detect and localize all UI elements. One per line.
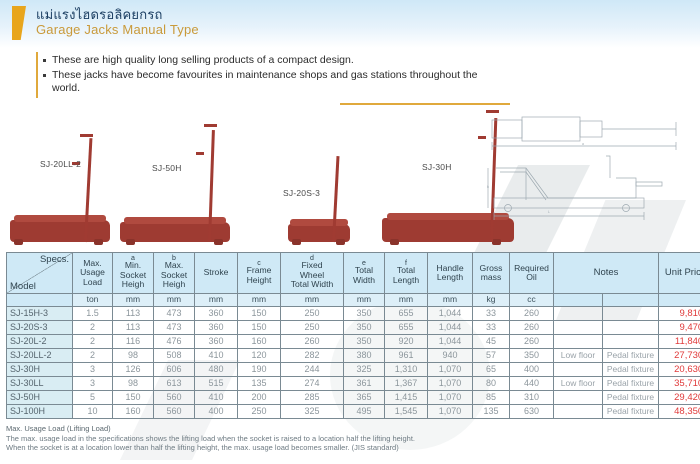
unit-blank bbox=[7, 294, 73, 307]
cell-gross-mass: 45 bbox=[473, 335, 510, 349]
cell-frame-height: 135 bbox=[238, 377, 281, 391]
jack-handle-grip bbox=[196, 152, 204, 155]
cell-fixed-wheel-width: 250 bbox=[281, 321, 344, 335]
unit-mm: mm bbox=[344, 294, 385, 307]
cell-frame-height: 150 bbox=[238, 321, 281, 335]
cell-max-socket: 560 bbox=[154, 391, 195, 405]
cell-gross-mass: 33 bbox=[473, 321, 510, 335]
svg-text:L: L bbox=[548, 210, 550, 214]
cell-fixed-wheel-width: 250 bbox=[281, 307, 344, 321]
cell-fixed-wheel-width: 260 bbox=[281, 335, 344, 349]
cell-load: 3 bbox=[73, 377, 113, 391]
cell-required-oil: 440 bbox=[510, 377, 554, 391]
model-label: Model bbox=[10, 282, 36, 292]
cell-note-1 bbox=[554, 335, 603, 349]
product-label: SJ-50H bbox=[152, 163, 182, 173]
jack-wheel bbox=[336, 239, 345, 245]
cell-gross-mass: 135 bbox=[473, 405, 510, 419]
cell-handle-length: 1,044 bbox=[428, 321, 473, 335]
technical-drawing: aLh bbox=[486, 112, 692, 224]
unit-mm: mm bbox=[113, 294, 154, 307]
cell-load: 10 bbox=[73, 405, 113, 419]
header-max-socket-heigh: bMax.SocketHeigh bbox=[154, 253, 195, 294]
cell-required-oil: 400 bbox=[510, 363, 554, 377]
table-row: SJ-20S-3 2 113 473 360 150 250 350 655 1… bbox=[7, 321, 700, 335]
cell-min-socket: 150 bbox=[113, 391, 154, 405]
cell-handle-length: 1,070 bbox=[428, 377, 473, 391]
cell-required-oil: 350 bbox=[510, 349, 554, 363]
footnote-line-1: Max. Usage Load (Lifting Load) bbox=[6, 424, 696, 434]
cell-fixed-wheel-width: 325 bbox=[281, 405, 344, 419]
cell-gross-mass: 33 bbox=[473, 307, 510, 321]
cell-note-2: Pedal fixture bbox=[603, 405, 659, 419]
jack-handle-grip bbox=[204, 124, 217, 127]
cell-load: 2 bbox=[73, 349, 113, 363]
cell-gross-mass: 65 bbox=[473, 363, 510, 377]
table-row: SJ-20LL-2 2 98 508 410 120 282 380 961 9… bbox=[7, 349, 700, 363]
cell-total-length: 655 bbox=[385, 321, 428, 335]
cell-total-width: 325 bbox=[344, 363, 385, 377]
jack-wheel bbox=[94, 239, 103, 245]
cell-frame-height: 190 bbox=[238, 363, 281, 377]
cell-min-socket: 113 bbox=[113, 321, 154, 335]
cell-unit-price: 27,730.- bbox=[659, 349, 700, 363]
cell-model: SJ-30LL bbox=[7, 377, 73, 391]
cell-total-length: 1,545 bbox=[385, 405, 428, 419]
cell-stroke: 360 bbox=[195, 335, 238, 349]
cell-note-2: Pedal fixture bbox=[603, 377, 659, 391]
page-title-english: Garage Jacks Manual Type bbox=[36, 22, 199, 37]
header-unit-price: Unit Price bbox=[659, 253, 700, 294]
cell-total-length: 1,415 bbox=[385, 391, 428, 405]
cell-frame-height: 120 bbox=[238, 349, 281, 363]
table-row: SJ-20L-2 2 116 476 360 160 260 350 920 1… bbox=[7, 335, 700, 349]
product-image-sj-50h bbox=[118, 116, 233, 242]
jack-wheel bbox=[492, 239, 501, 245]
cell-total-length: 961 bbox=[385, 349, 428, 363]
cell-max-socket: 476 bbox=[154, 335, 195, 349]
jack-wheel bbox=[14, 239, 23, 245]
bullet-item: These jacks have become favourites in ma… bbox=[38, 69, 508, 95]
cell-model: SJ-20S-3 bbox=[7, 321, 73, 335]
cell-total-width: 495 bbox=[344, 405, 385, 419]
page-header: แม่แรงไฮดรอลิคยกรถ Garage Jacks Manual T… bbox=[0, 0, 700, 48]
jack-handle-grip bbox=[80, 134, 93, 137]
cell-total-width: 350 bbox=[344, 321, 385, 335]
cell-min-socket: 126 bbox=[113, 363, 154, 377]
cell-note-1 bbox=[554, 363, 603, 377]
cell-note-2 bbox=[603, 335, 659, 349]
cell-gross-mass: 85 bbox=[473, 391, 510, 405]
cell-gross-mass: 80 bbox=[473, 377, 510, 391]
intro-bullets: These are high quality long selling prod… bbox=[36, 52, 508, 98]
cell-load: 2 bbox=[73, 321, 113, 335]
cell-note-1: Low floor bbox=[554, 377, 603, 391]
unit-blank bbox=[603, 294, 659, 307]
cell-note-1 bbox=[554, 405, 603, 419]
cell-model: SJ-100H bbox=[7, 405, 73, 419]
cell-unit-price: 29,420.- bbox=[659, 391, 700, 405]
cell-handle-length: 1,070 bbox=[428, 363, 473, 377]
cell-unit-price: 20,630.- bbox=[659, 363, 700, 377]
product-label: SJ-30H bbox=[422, 162, 452, 172]
cell-note-2: Pedal fixture bbox=[603, 391, 659, 405]
table-header-row: Specs. Model Max.UsageLoad aMin.SocketHe… bbox=[7, 253, 700, 294]
cell-note-1 bbox=[554, 307, 603, 321]
cell-stroke: 400 bbox=[195, 405, 238, 419]
header-notes: Notes bbox=[554, 253, 659, 294]
cell-min-socket: 113 bbox=[113, 307, 154, 321]
cell-model: SJ-50H bbox=[7, 391, 73, 405]
cell-handle-length: 940 bbox=[428, 349, 473, 363]
product-image-sj-20ll-2 bbox=[8, 122, 113, 242]
cell-unit-price: 9,470.- bbox=[659, 321, 700, 335]
header-fixed-wheel-total-width: dFixedWheelTotal Width bbox=[281, 253, 344, 294]
unit-mm: mm bbox=[281, 294, 344, 307]
header-required-oil: RequiredOil bbox=[510, 253, 554, 294]
table-row: SJ-30LL 3 98 613 515 135 274 361 1,367 1… bbox=[7, 377, 700, 391]
cell-note-2: Pedal fixture bbox=[603, 363, 659, 377]
specifications-table: Specs. Model Max.UsageLoad aMin.SocketHe… bbox=[6, 252, 700, 419]
cell-frame-height: 160 bbox=[238, 335, 281, 349]
cell-note-2: Pedal fixture bbox=[603, 349, 659, 363]
bullet-item: These are high quality long selling prod… bbox=[38, 54, 508, 67]
unit-blank bbox=[554, 294, 603, 307]
cell-load: 3 bbox=[73, 363, 113, 377]
cell-required-oil: 260 bbox=[510, 307, 554, 321]
cell-fixed-wheel-width: 274 bbox=[281, 377, 344, 391]
cell-fixed-wheel-width: 244 bbox=[281, 363, 344, 377]
footnote-line-2: The max. usage load in the specification… bbox=[6, 434, 696, 444]
table-row: SJ-15H-3 1.5 113 473 360 150 250 350 655… bbox=[7, 307, 700, 321]
product-photo-area: aLh SJ-20LL-2 SJ-50H SJ-20S-3 SJ-30H bbox=[0, 104, 700, 246]
cell-unit-price: 11,840.- bbox=[659, 335, 700, 349]
jack-wheel bbox=[390, 239, 399, 245]
header-gross-mass: Grossmass bbox=[473, 253, 510, 294]
cell-stroke: 480 bbox=[195, 363, 238, 377]
catalog-page: แม่แรงไฮดรอลิคยกรถ Garage Jacks Manual T… bbox=[0, 0, 700, 464]
cell-total-width: 350 bbox=[344, 335, 385, 349]
svg-text:h: h bbox=[487, 185, 489, 189]
cell-unit-price: 35,710.- bbox=[659, 377, 700, 391]
unit-ton: ton bbox=[73, 294, 113, 307]
cell-load: 1.5 bbox=[73, 307, 113, 321]
cell-stroke: 410 bbox=[195, 391, 238, 405]
cell-max-socket: 473 bbox=[154, 307, 195, 321]
cell-handle-length: 1,070 bbox=[428, 405, 473, 419]
cell-fixed-wheel-width: 282 bbox=[281, 349, 344, 363]
unit-blank bbox=[659, 294, 700, 307]
svg-text:a: a bbox=[582, 142, 584, 146]
unit-mm: mm bbox=[238, 294, 281, 307]
cell-max-socket: 560 bbox=[154, 405, 195, 419]
cell-stroke: 515 bbox=[195, 377, 238, 391]
cell-load: 5 bbox=[73, 391, 113, 405]
jack-handle-grip bbox=[478, 136, 486, 139]
unit-cc: cc bbox=[510, 294, 554, 307]
cell-note-1: Low floor bbox=[554, 349, 603, 363]
cell-handle-length: 1,070 bbox=[428, 391, 473, 405]
cell-frame-height: 200 bbox=[238, 391, 281, 405]
specs-label: Specs. bbox=[40, 255, 69, 265]
cell-total-length: 920 bbox=[385, 335, 428, 349]
cell-fixed-wheel-width: 285 bbox=[281, 391, 344, 405]
cell-min-socket: 116 bbox=[113, 335, 154, 349]
jack-wheel bbox=[126, 239, 135, 245]
cell-unit-price: 48,350.- bbox=[659, 405, 700, 419]
cell-handle-length: 1,044 bbox=[428, 307, 473, 321]
unit-mm: mm bbox=[195, 294, 238, 307]
jack-wheel bbox=[214, 239, 223, 245]
cell-model: SJ-30H bbox=[7, 363, 73, 377]
cell-stroke: 360 bbox=[195, 307, 238, 321]
cell-total-width: 380 bbox=[344, 349, 385, 363]
cell-max-socket: 606 bbox=[154, 363, 195, 377]
cell-frame-height: 150 bbox=[238, 307, 281, 321]
header-max-usage-load: Max.UsageLoad bbox=[73, 253, 113, 294]
header-handle-length: HandleLength bbox=[428, 253, 473, 294]
cell-frame-height: 250 bbox=[238, 405, 281, 419]
cell-model: SJ-15H-3 bbox=[7, 307, 73, 321]
cell-total-width: 365 bbox=[344, 391, 385, 405]
cell-min-socket: 160 bbox=[113, 405, 154, 419]
cell-unit-price: 9,810.- bbox=[659, 307, 700, 321]
cell-note-1 bbox=[554, 391, 603, 405]
header-accent-tab bbox=[12, 6, 26, 40]
cell-handle-length: 1,044 bbox=[428, 335, 473, 349]
header-total-length: fTotalLength bbox=[385, 253, 428, 294]
unit-kg: kg bbox=[473, 294, 510, 307]
cell-load: 2 bbox=[73, 335, 113, 349]
cell-total-width: 361 bbox=[344, 377, 385, 391]
cell-required-oil: 260 bbox=[510, 335, 554, 349]
unit-mm: mm bbox=[154, 294, 195, 307]
cell-note-1 bbox=[554, 321, 603, 335]
header-min-socket-heigh: aMin.SocketHeigh bbox=[113, 253, 154, 294]
table-row: SJ-100H 10 160 560 400 250 325 495 1,545… bbox=[7, 405, 700, 419]
header-total-width: eTotalWidth bbox=[344, 253, 385, 294]
cell-gross-mass: 57 bbox=[473, 349, 510, 363]
cell-min-socket: 98 bbox=[113, 377, 154, 391]
table-unit-row: ton mm mm mm mm mm mm mm mm kg cc bbox=[7, 294, 700, 307]
cell-required-oil: 310 bbox=[510, 391, 554, 405]
cell-total-length: 655 bbox=[385, 307, 428, 321]
table-row: SJ-30H 3 126 606 480 190 244 325 1,310 1… bbox=[7, 363, 700, 377]
cell-total-length: 1,367 bbox=[385, 377, 428, 391]
jack-wheel bbox=[292, 239, 301, 245]
cell-required-oil: 260 bbox=[510, 321, 554, 335]
table-row: SJ-50H 5 150 560 410 200 285 365 1,415 1… bbox=[7, 391, 700, 405]
cell-total-width: 350 bbox=[344, 307, 385, 321]
unit-mm: mm bbox=[385, 294, 428, 307]
cell-stroke: 410 bbox=[195, 349, 238, 363]
header-stroke: Stroke bbox=[195, 253, 238, 294]
cell-note-2 bbox=[603, 307, 659, 321]
unit-mm: mm bbox=[428, 294, 473, 307]
cell-note-2 bbox=[603, 321, 659, 335]
cell-max-socket: 508 bbox=[154, 349, 195, 363]
header-corner-cell: Specs. Model bbox=[7, 253, 73, 294]
footnote-block: Max. Usage Load (Lifting Load) The max. … bbox=[6, 424, 696, 453]
cell-required-oil: 630 bbox=[510, 405, 554, 419]
product-label: SJ-20S-3 bbox=[283, 188, 320, 198]
cell-model: SJ-20LL-2 bbox=[7, 349, 73, 363]
footnote-line-3: When the socket is at a location lower t… bbox=[6, 443, 696, 453]
cell-model: SJ-20L-2 bbox=[7, 335, 73, 349]
cell-max-socket: 473 bbox=[154, 321, 195, 335]
product-label: SJ-20LL-2 bbox=[40, 159, 81, 169]
cell-total-length: 1,310 bbox=[385, 363, 428, 377]
cell-max-socket: 613 bbox=[154, 377, 195, 391]
cell-min-socket: 98 bbox=[113, 349, 154, 363]
header-frame-height: cFrameHeight bbox=[238, 253, 281, 294]
cell-stroke: 360 bbox=[195, 321, 238, 335]
